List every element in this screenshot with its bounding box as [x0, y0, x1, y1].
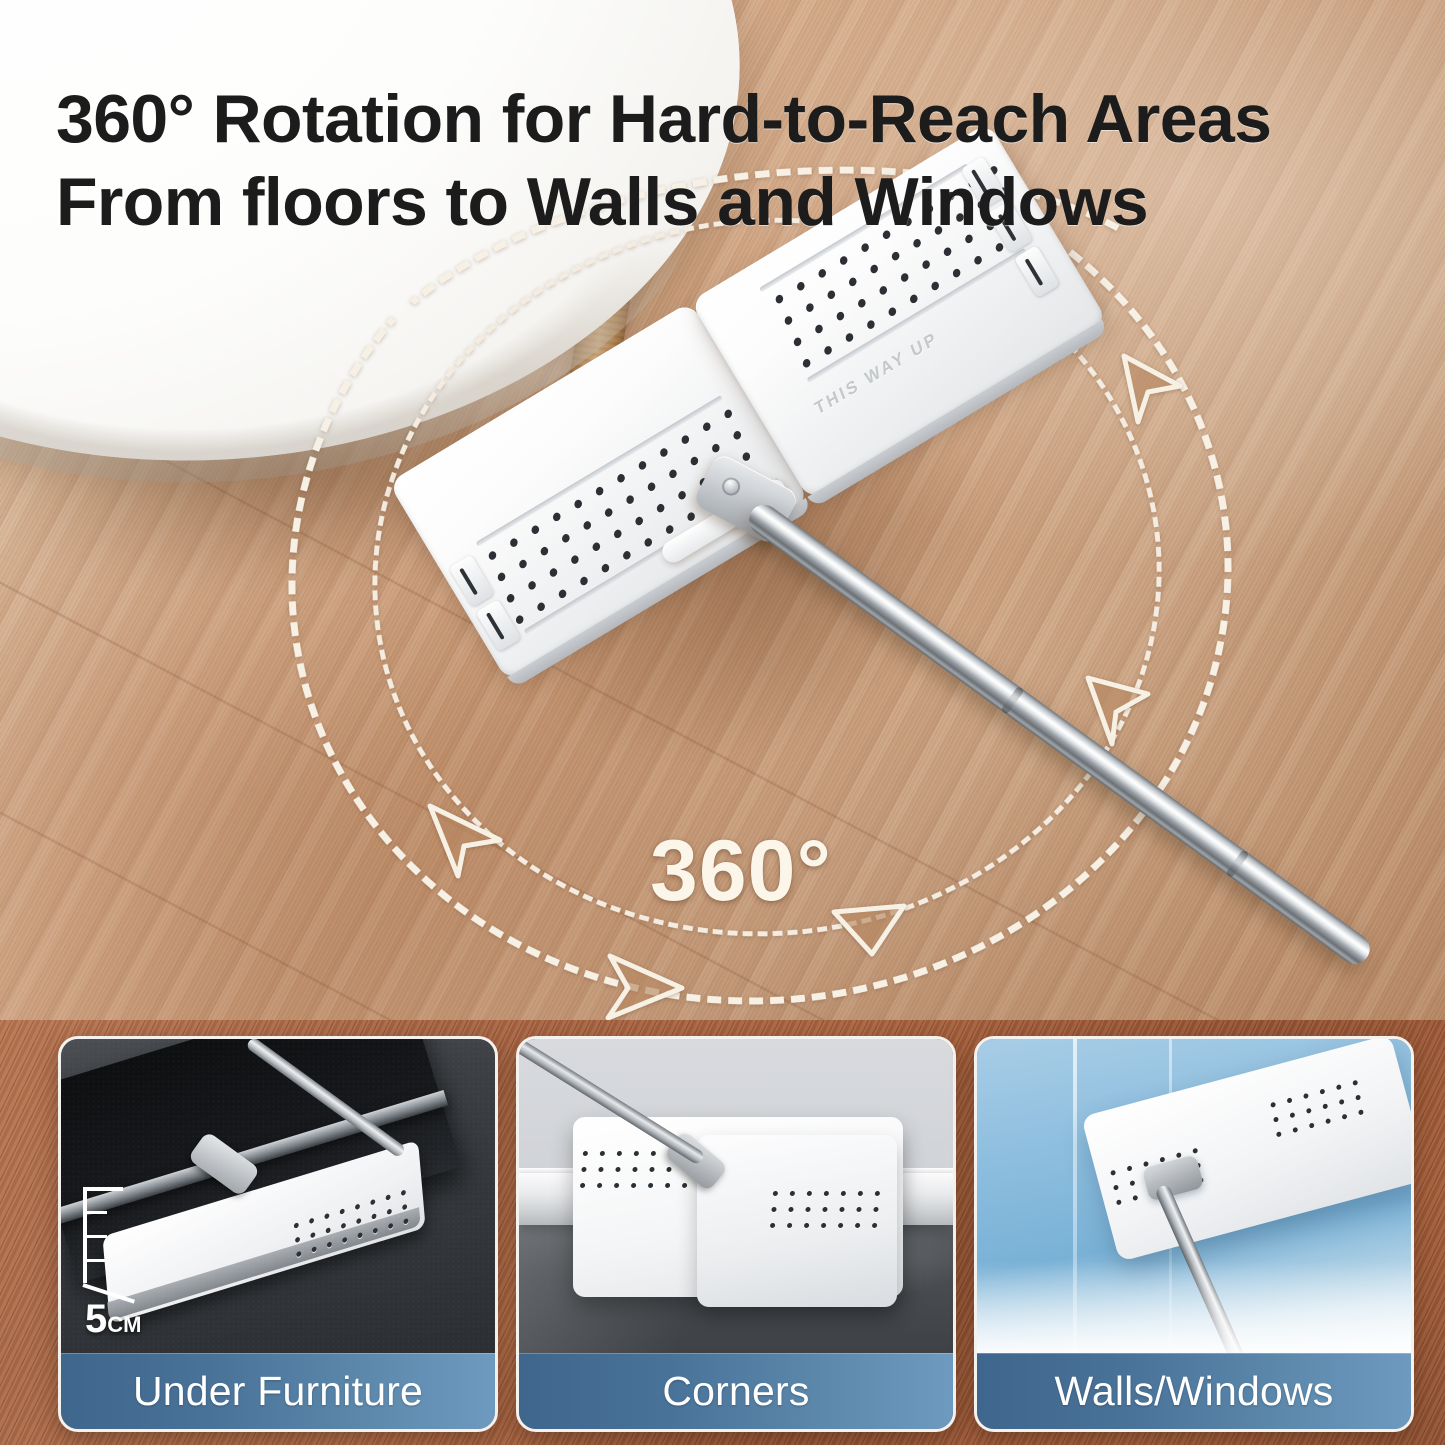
mop-head — [1081, 1039, 1411, 1262]
panel-3-scene — [977, 1039, 1411, 1353]
mop-swivel-joint — [187, 1131, 260, 1197]
panel-2-scene — [519, 1039, 953, 1353]
page-title: 360° Rotation for Hard-to-Reach Areas Fr… — [56, 78, 1416, 244]
furniture-edge — [61, 1090, 448, 1228]
feature-panel-walls-windows[interactable]: Walls/Windows — [974, 1036, 1414, 1432]
feature-panel-strip: 5CM Under Furniture — [0, 1020, 1445, 1445]
measure-unit: CM — [107, 1312, 141, 1337]
measure-value: 5 — [85, 1297, 107, 1341]
panel-caption: Under Furniture — [61, 1353, 495, 1429]
hero-scene: 360° — [0, 0, 1445, 1020]
measurement-scale-icon — [83, 1187, 123, 1283]
mop-pad — [107, 1207, 420, 1321]
window-pane-divider — [1073, 1039, 1077, 1353]
panel-caption: Corners — [519, 1353, 953, 1429]
product-feature-graphic: 360° — [0, 0, 1445, 1445]
headline-line-2: From floors to Walls and Windows — [56, 161, 1416, 244]
panel-1-scene: 5CM — [61, 1039, 495, 1353]
feature-panel-under-furniture[interactable]: 5CM Under Furniture — [58, 1036, 498, 1432]
rotation-badge: 360° — [650, 822, 832, 921]
mop-perforation-grid — [769, 1191, 880, 1239]
feature-panel-corners[interactable]: Corners — [516, 1036, 956, 1432]
mop-handle — [245, 1039, 406, 1158]
furniture-body — [61, 1039, 461, 1283]
clearance-measurement: 5CM — [85, 1297, 141, 1342]
headline-line-1: 360° Rotation for Hard-to-Reach Areas — [56, 81, 1271, 157]
mop-head-flat — [102, 1140, 425, 1324]
panel-caption: Walls/Windows — [977, 1353, 1411, 1429]
mop-perforation-grid — [294, 1190, 410, 1267]
measurement-leader-line — [82, 1283, 135, 1303]
